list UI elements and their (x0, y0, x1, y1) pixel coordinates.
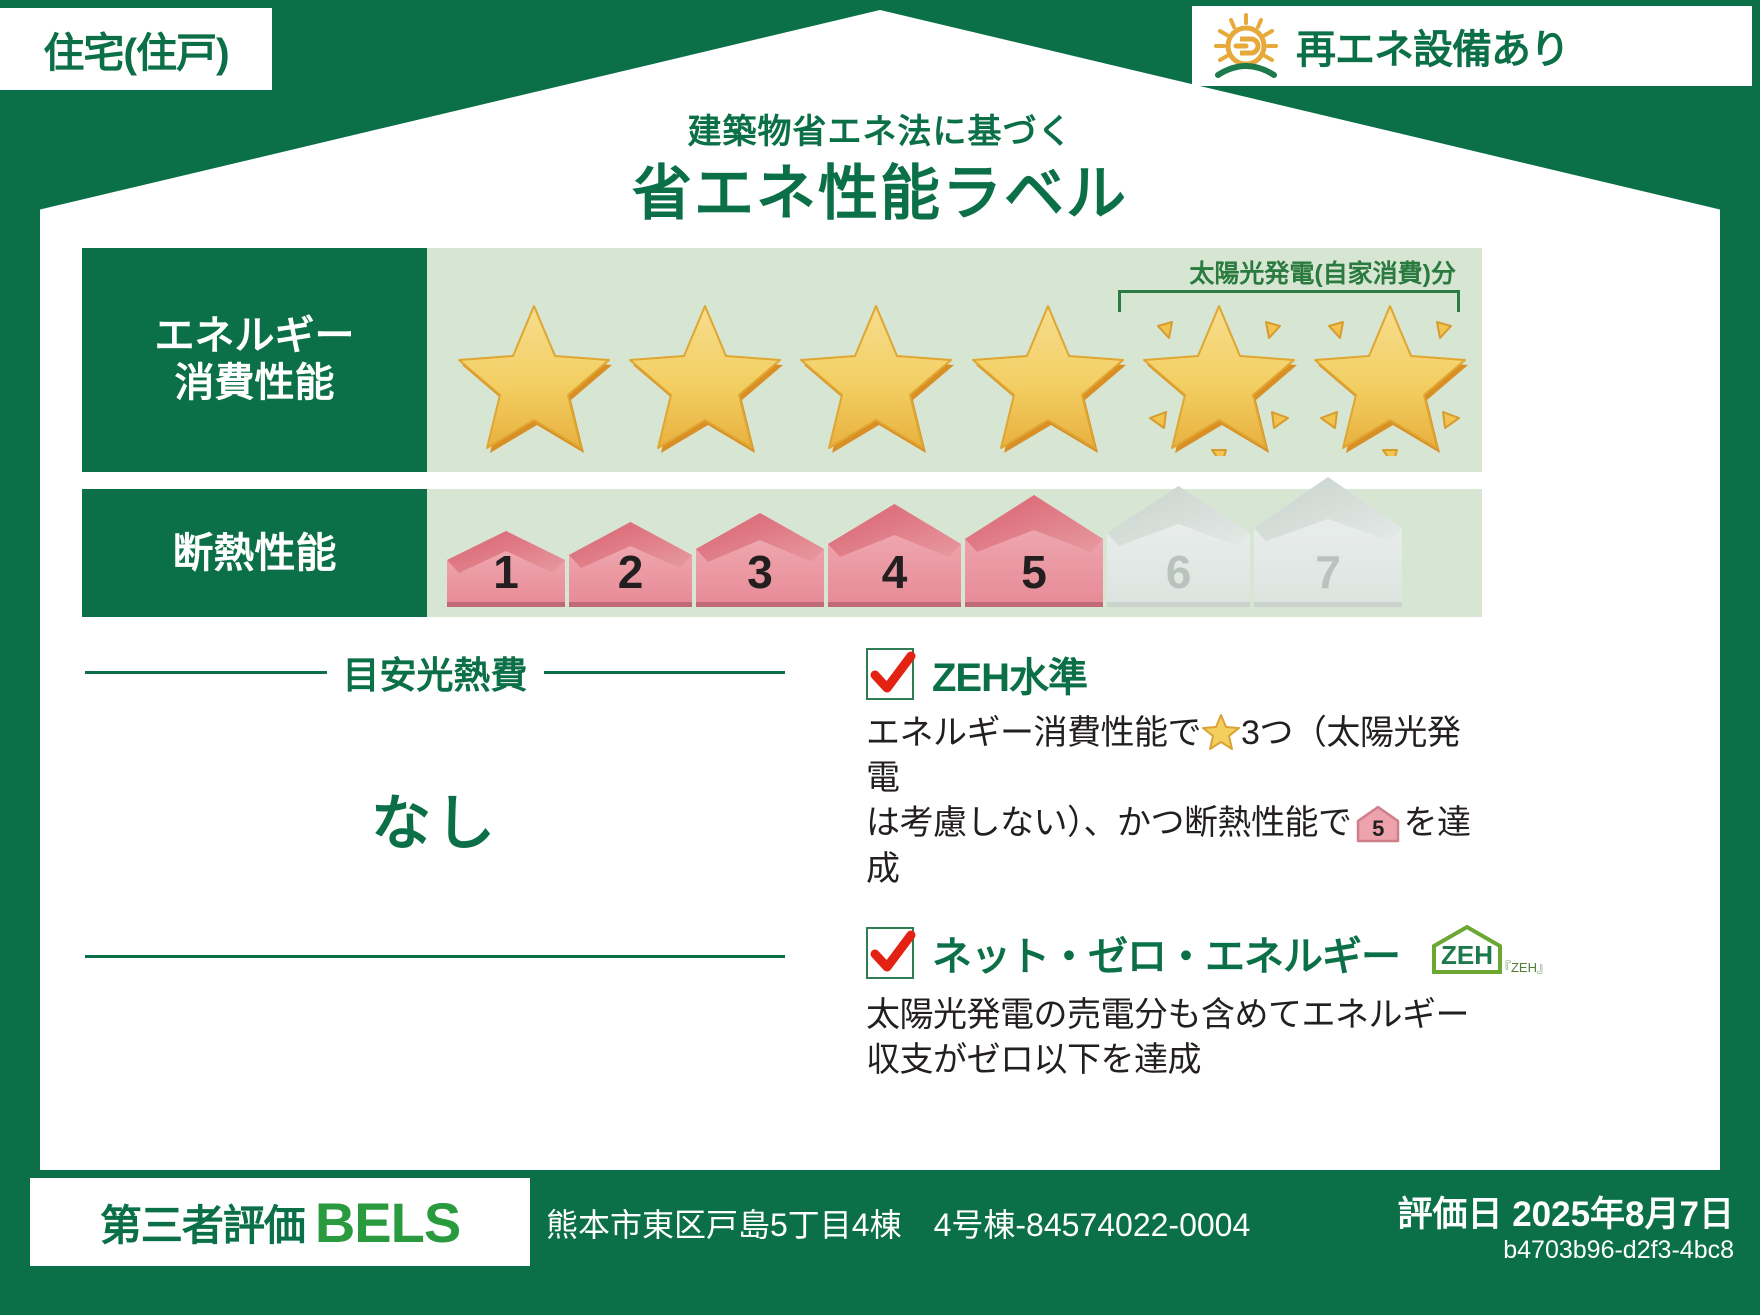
energy-star (793, 298, 958, 456)
label-title: 省エネ性能ラベル (0, 145, 1760, 232)
evaluation-id: b4703b96-d2f3-4bc8 (1503, 1236, 1734, 1265)
zeh-item-net-zero: ネット・ゼロ・エネルギー ZEH 『ZEH』 太陽光発電の売電分も含めてエネルギ… (866, 922, 1486, 1083)
insulation-grade-number: 6 (1107, 545, 1250, 599)
svg-text:5: 5 (1372, 816, 1384, 841)
renewable-badge-label: 再エネ設備あり (1296, 17, 1569, 75)
zeh-standard-description: エネルギー消費性能で3つ（太陽光発電は考慮しない）、かつ断熱性能で5を達成 (866, 711, 1486, 892)
insulation-grade-number: 7 (1254, 545, 1402, 599)
utility-cost-block: 目安光熱費 なし (85, 645, 785, 862)
bels-jp-label: 第三者評価 (100, 1192, 305, 1253)
zeh-net-zero-title: ネット・ゼロ・エネルギー (932, 924, 1400, 982)
zeh-net-zero-head: ネット・ゼロ・エネルギー ZEH 『ZEH』 (866, 922, 1486, 985)
bels-energy-label: 住宅(住戸) 再エネ設備あり 建築物省エネ法に基づく 省エネ性能ラベル (0, 0, 1760, 1315)
zeh-desc-part-1: エネルギー消費性能で (866, 714, 1201, 752)
check-icon (866, 646, 918, 704)
insulation-grade-chip-icon: 5 (1355, 804, 1401, 844)
utility-cost-title: 目安光熱費 (343, 645, 528, 699)
insulation-grade-scale: 1 2 (447, 489, 1482, 617)
bels-en-label: BELS (315, 1190, 460, 1255)
cost-rule-left (85, 671, 327, 674)
utility-cost-heading: 目安光熱費 (85, 645, 785, 699)
check-icon (866, 925, 918, 983)
star-icon (1202, 714, 1240, 750)
renewable-equipment-badge: 再エネ設備あり (1192, 6, 1752, 86)
zeh-net-zero-checkbox[interactable] (866, 927, 914, 979)
energy-star (451, 298, 616, 456)
utility-cost-value: なし (85, 775, 785, 862)
insulation-grade-number: 4 (828, 545, 961, 599)
zeh-desc-part-3: は考慮しない）、かつ断熱性能で (866, 804, 1352, 842)
energy-label-line2: 消費性能 (175, 360, 335, 407)
insulation-grade-number: 2 (569, 545, 692, 599)
insulation-label-text: 断熱性能 (173, 529, 337, 577)
pv-annotation-label: 太陽光発電(自家消費)分 (1189, 254, 1456, 290)
energy-star (965, 298, 1130, 456)
evaluation-date: 評価日 2025年8月7日 (1397, 1186, 1734, 1237)
insulation-performance-label: 断熱性能 (82, 489, 427, 617)
building-type-box: 住宅(住戸) (0, 8, 272, 90)
label-footer: 第三者評価 BELS 熊本市東区戸島5丁目4棟 4号棟-84574022-000… (0, 1170, 1760, 1315)
zeh-standard-title: ZEH水準 (932, 645, 1087, 703)
insulation-performance-body: 1 2 (427, 489, 1482, 617)
zeh-net-zero-desc-line2: 収支がゼロ以下を達成 (866, 1041, 1201, 1079)
insulation-grade-5: 5 (965, 493, 1103, 607)
bels-logo-box: 第三者評価 BELS (30, 1178, 530, 1266)
energy-star-rating (451, 298, 1472, 456)
energy-label-line1: エネルギー (155, 313, 355, 360)
zeh-standard-head: ZEH水準 (866, 645, 1486, 703)
insulation-grade-number: 1 (447, 545, 565, 599)
zeh-net-zero-desc-line1: 太陽光発電の売電分も含めてエネルギー (866, 996, 1469, 1034)
zeh-standard-checkbox[interactable] (866, 648, 914, 700)
zeh-checklist: ZEH水準 エネルギー消費性能で3つ（太陽光発電は考慮しない）、かつ断熱性能で5… (866, 645, 1486, 1083)
zeh-net-zero-description: 太陽光発電の売電分も含めてエネルギー収支がゼロ以下を達成 (866, 993, 1486, 1083)
energy-performance-body: 太陽光発電(自家消費)分 (427, 248, 1482, 472)
building-type-label: 住宅(住戸) (43, 19, 228, 79)
energy-star (622, 298, 787, 456)
insulation-grade-1: 1 (447, 529, 565, 607)
insulation-grade-2: 2 (569, 520, 692, 607)
svg-text:『ZEH』: 『ZEH』 (1498, 960, 1546, 975)
svg-text:ZEH: ZEH (1441, 940, 1493, 970)
insulation-grade-3: 3 (696, 511, 824, 607)
cost-rule-right (544, 671, 786, 674)
insulation-performance-row: 断熱性能 1 (82, 489, 1482, 617)
insulation-grade-6: 6 (1107, 484, 1250, 607)
energy-performance-row: エネルギー 消費性能 太陽光発電(自家消費)分 (82, 248, 1482, 472)
insulation-grade-4: 4 (828, 502, 961, 607)
insulation-grade-7: 7 (1254, 475, 1402, 607)
solar-sun-icon (1210, 12, 1282, 80)
energy-star-pv (1307, 298, 1472, 456)
zeh-logo: ZEH 『ZEH』 (1426, 922, 1546, 985)
insulation-grade-number: 3 (696, 545, 824, 599)
cost-rule-bottom (85, 955, 785, 958)
insulation-grade-number: 5 (965, 545, 1103, 599)
energy-star-pv (1136, 298, 1301, 456)
energy-performance-label: エネルギー 消費性能 (82, 248, 427, 472)
property-address: 熊本市東区戸島5丁目4棟 4号棟-84574022-0004 (546, 1200, 1250, 1246)
zeh-item-standard: ZEH水準 エネルギー消費性能で3つ（太陽光発電は考慮しない）、かつ断熱性能で5… (866, 645, 1486, 892)
